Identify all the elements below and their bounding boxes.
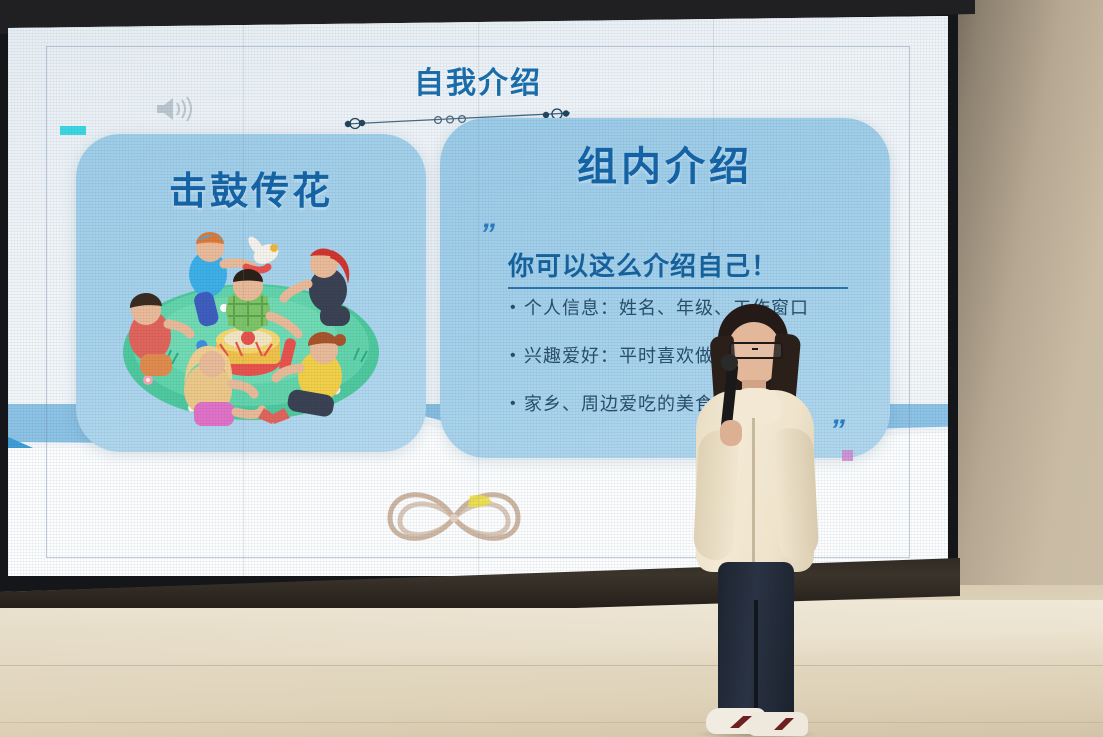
- presentation-room-scene: 自我介绍: [0, 0, 1103, 737]
- bullet-marker-icon: •: [510, 394, 524, 414]
- led-panel-seam: [243, 16, 244, 576]
- quote-close-icon: ”: [830, 414, 843, 448]
- floor-seam-2: [0, 722, 1103, 723]
- presenter-left-arm: [693, 429, 740, 561]
- left-card[interactable]: 击鼓传花: [76, 134, 426, 452]
- floor-seam: [0, 665, 1103, 666]
- pink-marker: [842, 450, 853, 461]
- presenter-right-arm: [773, 427, 820, 561]
- presenter: [690, 300, 820, 737]
- quote-open-icon: ”: [480, 218, 493, 252]
- list-item-text: 家乡、周边爱吃的美食: [524, 394, 714, 414]
- ribbon-ornament-icon: [374, 478, 534, 556]
- floor-reflection: [0, 600, 1103, 670]
- right-card-subhead: 你可以这么介绍自己！: [508, 246, 848, 289]
- speaker-icon[interactable]: [153, 94, 193, 124]
- cyan-marker: [60, 126, 86, 135]
- presenter-hand: [720, 420, 742, 446]
- right-card[interactable]: 组内介绍 ” 你可以这么介绍自己！ • 个人信息：姓名、年级、工作窗口 • 兴趣…: [440, 118, 890, 458]
- bullet-marker-icon: •: [510, 298, 524, 318]
- presenter-leg-gap: [754, 600, 758, 722]
- right-wall: [940, 0, 1103, 620]
- led-panel-seam: [478, 16, 479, 576]
- bullet-marker-icon: •: [510, 346, 524, 366]
- jacket-zipper: [752, 418, 755, 564]
- children-circle-illustration: [96, 212, 406, 434]
- right-card-title: 组内介绍: [440, 134, 890, 192]
- glasses-icon: [729, 342, 783, 359]
- presenter-shoe-right: [746, 712, 808, 736]
- left-card-title: 击鼓传花: [76, 160, 426, 215]
- presenter-collar: [728, 388, 782, 424]
- microphone-head-icon: [721, 354, 738, 371]
